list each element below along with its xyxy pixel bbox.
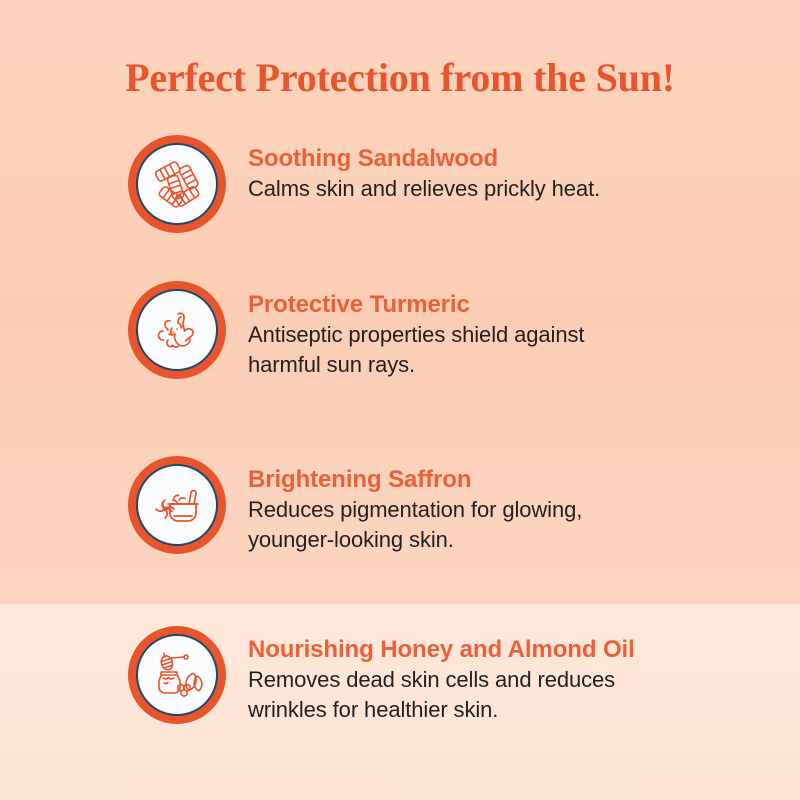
feature-row-turmeric: Protective Turmeric Antiseptic propertie… [128, 281, 728, 380]
feature-row-honey-almond: Nourishing Honey and Almond Oil Removes … [128, 626, 728, 725]
feature-description: Calms skin and relieves prickly heat. [248, 174, 600, 204]
turmeric-root-icon [148, 301, 206, 359]
feature-description: Reduces pigmentation for glowing, younge… [248, 495, 582, 555]
page-title: Perfect Protection from the Sun! [0, 54, 800, 102]
feature-badge-turmeric [128, 281, 226, 379]
badge-inner-circle [136, 289, 218, 371]
feature-description: Removes dead skin cells and reduces wrin… [248, 665, 635, 725]
feature-title: Brightening Saffron [248, 464, 582, 495]
feature-row-sandalwood: Soothing Sandalwood Calms skin and relie… [128, 135, 728, 233]
feature-badge-sandalwood [128, 135, 226, 233]
feature-text-block: Nourishing Honey and Almond Oil Removes … [248, 626, 635, 725]
sandalwood-sticks-icon [148, 155, 206, 213]
feature-row-saffron: Brightening Saffron Reduces pigmentation… [128, 456, 728, 555]
feature-text-block: Protective Turmeric Antiseptic propertie… [248, 281, 584, 380]
badge-inner-circle [136, 143, 218, 225]
feature-title: Nourishing Honey and Almond Oil [248, 634, 635, 665]
sun-protection-poster: Perfect Protection from the Sun! [0, 0, 800, 800]
badge-inner-circle [136, 634, 218, 716]
feature-description: Antiseptic properties shield against har… [248, 320, 584, 380]
feature-text-block: Brightening Saffron Reduces pigmentation… [248, 456, 582, 555]
feature-title: Soothing Sandalwood [248, 143, 600, 174]
honey-jar-almonds-icon [148, 646, 206, 704]
saffron-mortar-icon [148, 476, 206, 534]
feature-text-block: Soothing Sandalwood Calms skin and relie… [248, 135, 600, 204]
feature-badge-honey-almond [128, 626, 226, 724]
feature-title: Protective Turmeric [248, 289, 584, 320]
badge-inner-circle [136, 464, 218, 546]
feature-badge-saffron [128, 456, 226, 554]
